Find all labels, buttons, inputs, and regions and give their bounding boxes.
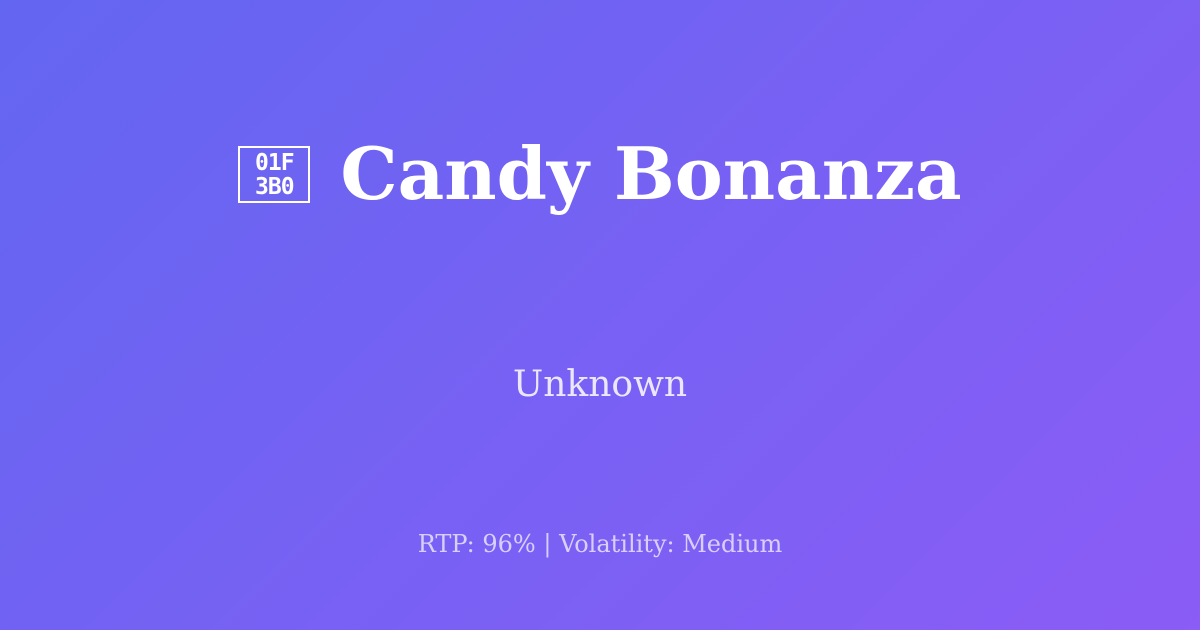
subtitle-provider: Unknown — [0, 362, 1200, 408]
slot-machine-icon: 01F 3B0 — [238, 146, 310, 203]
game-stats-line: RTP: 96% | Volatility: Medium — [0, 528, 1200, 560]
tofu-codepoint-bottom: 3B0 — [255, 175, 294, 199]
tofu-codepoint-top: 01F — [255, 151, 294, 175]
og-share-card: 01F 3B0 Candy Bonanza Unknown RTP: 96% |… — [0, 0, 1200, 630]
title-row: 01F 3B0 Candy Bonanza — [0, 0, 1200, 347]
page-title: Candy Bonanza — [340, 138, 961, 210]
